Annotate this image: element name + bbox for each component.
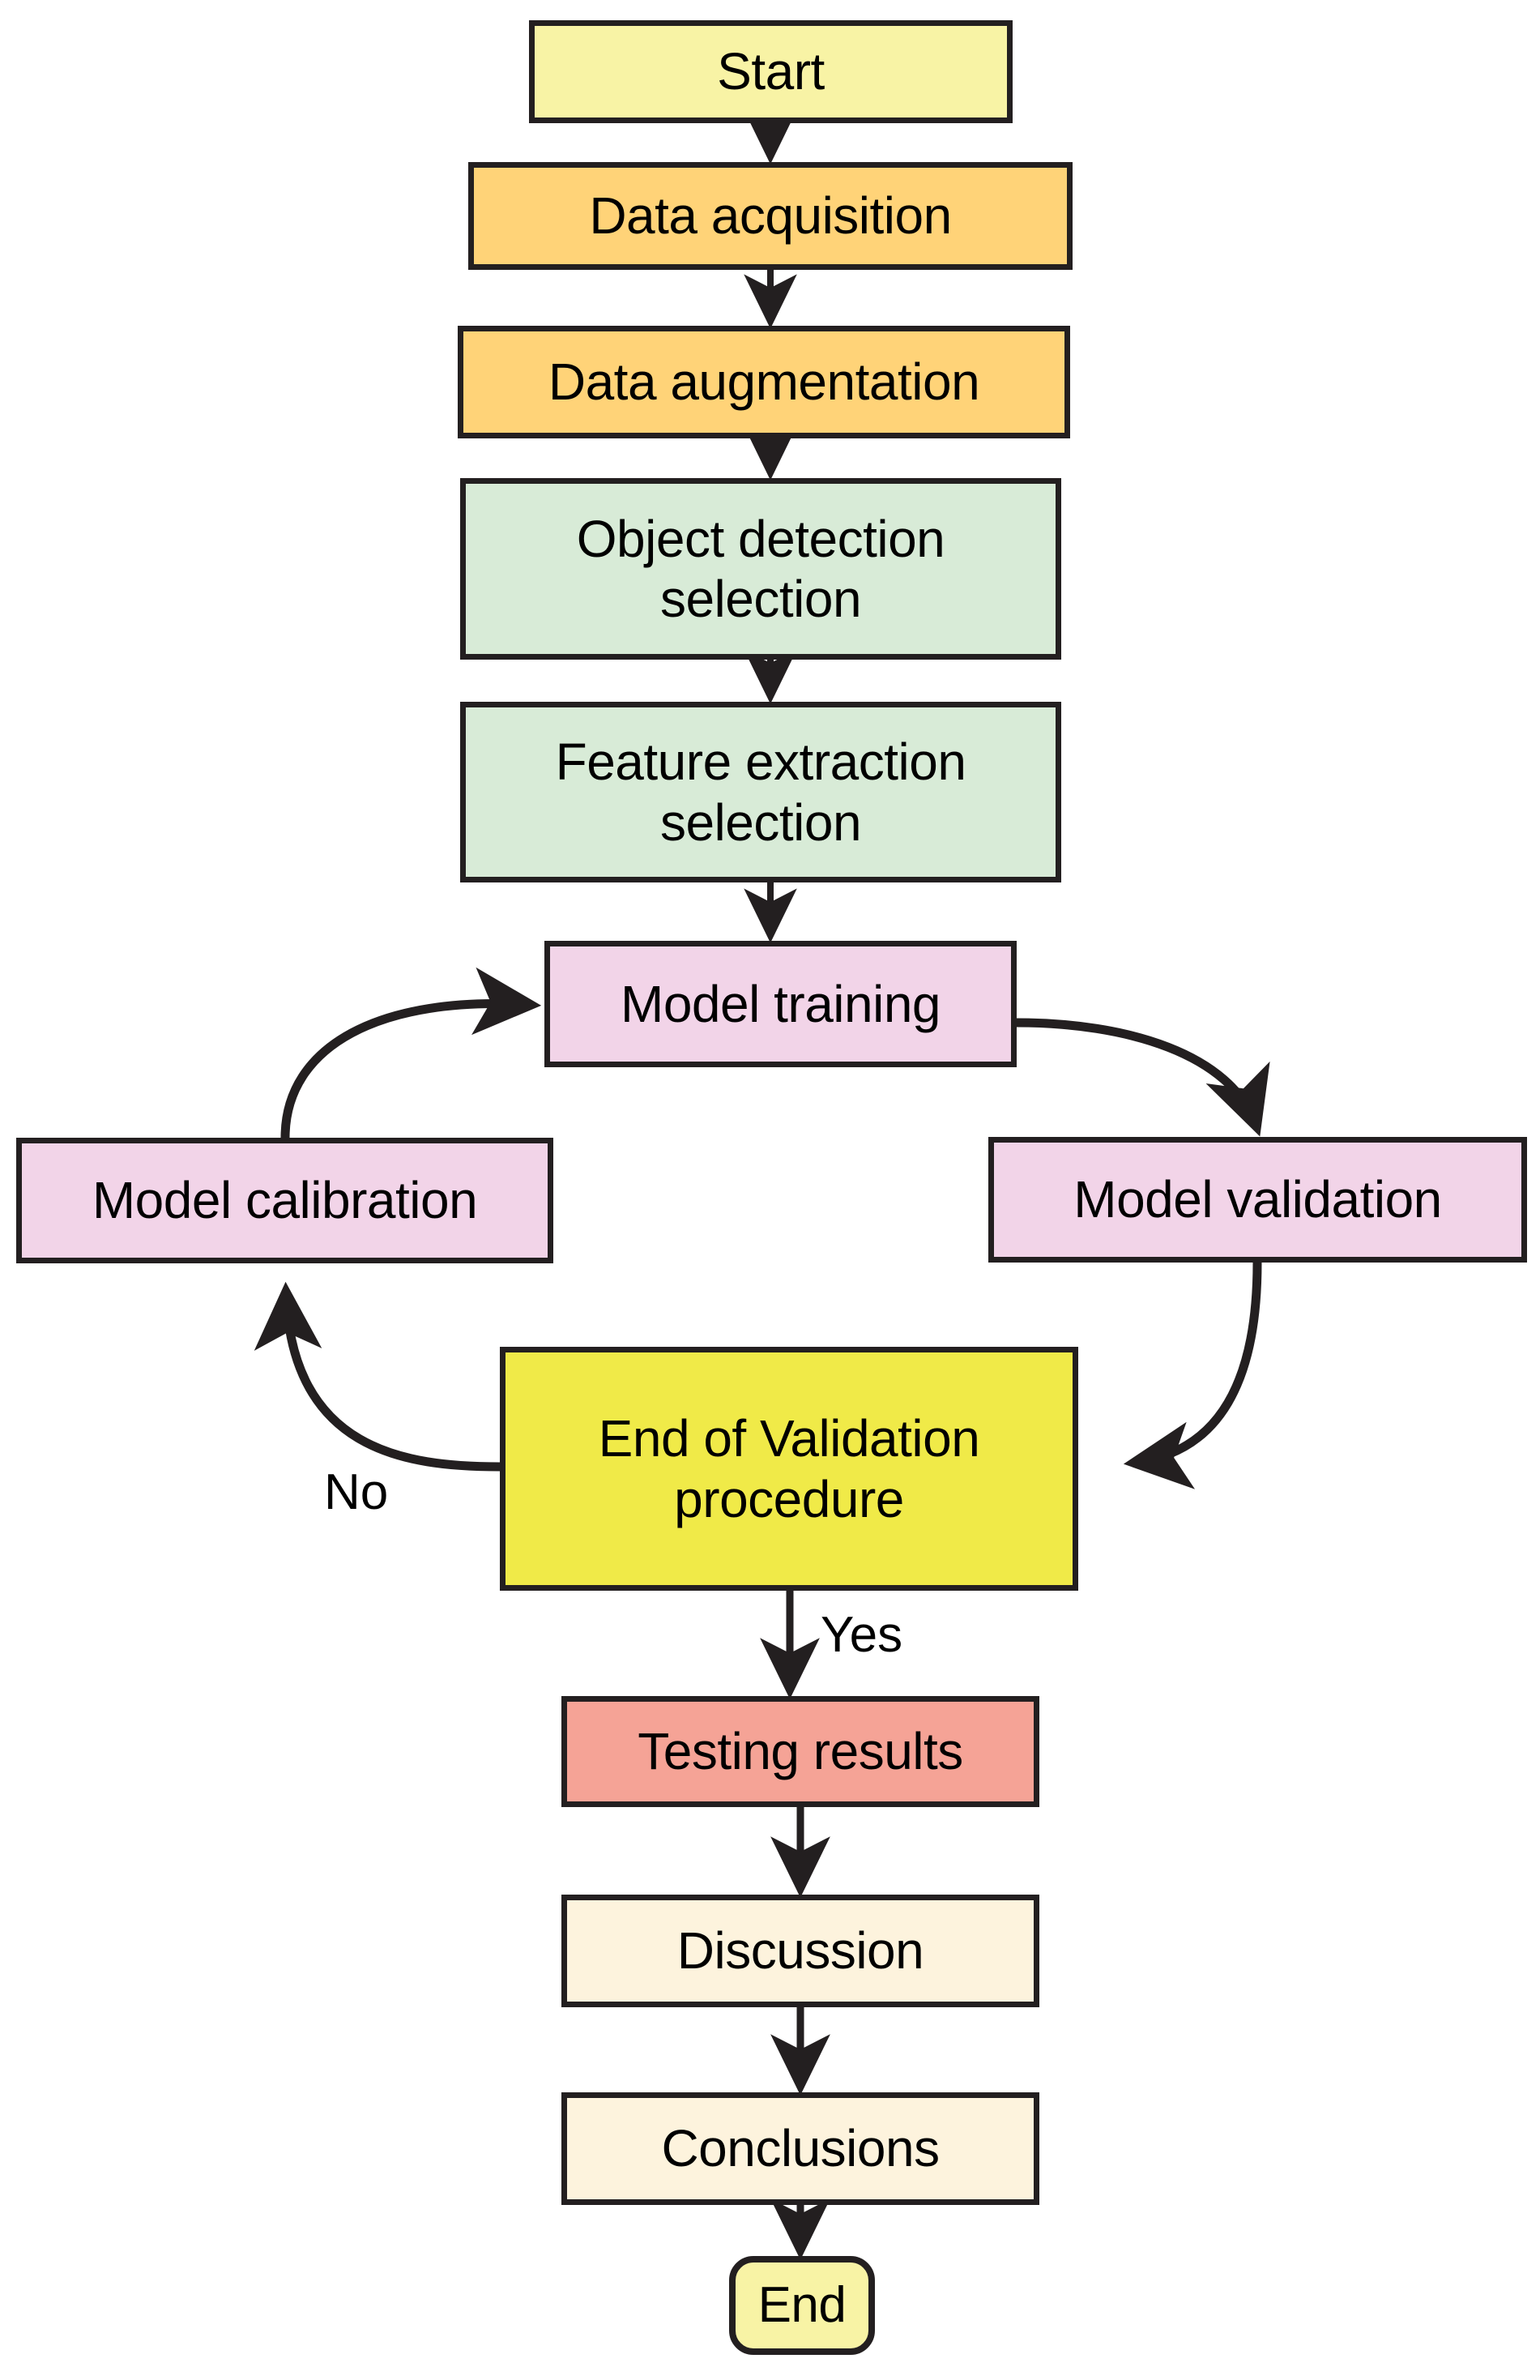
node-end-label: End	[742, 2276, 862, 2335]
node-testing-results[interactable]: Testing results	[561, 1696, 1039, 1807]
edge-end-of-validation-to-model-calibration	[286, 1293, 500, 1467]
node-object-detection-selection[interactable]: Object detection selection	[460, 478, 1061, 660]
edge-model-training-to-model-validation	[1017, 1023, 1256, 1126]
node-discussion-label: Discussion	[574, 1921, 1027, 1980]
node-model-training[interactable]: Model training	[544, 941, 1017, 1067]
node-object-detection-selection-label: Object detection selection	[472, 509, 1049, 629]
node-end-of-validation-procedure[interactable]: End of Validation procedure	[500, 1347, 1078, 1591]
node-testing-results-label: Testing results	[574, 1721, 1027, 1781]
edge-model-calibration-to-model-training	[285, 1004, 531, 1138]
node-discussion[interactable]: Discussion	[561, 1895, 1039, 2007]
node-feature-extraction-selection[interactable]: Feature extraction selection	[460, 702, 1061, 882]
node-model-validation[interactable]: Model validation	[988, 1137, 1527, 1263]
node-conclusions-label: Conclusions	[574, 2118, 1027, 2178]
node-start[interactable]: Start	[529, 20, 1013, 123]
node-end[interactable]: End	[729, 2256, 875, 2355]
node-data-augmentation-label: Data augmentation	[470, 352, 1058, 412]
node-data-acquisition[interactable]: Data acquisition	[468, 162, 1073, 270]
node-model-calibration[interactable]: Model calibration	[16, 1138, 553, 1263]
node-model-validation-label: Model validation	[1000, 1169, 1515, 1229]
node-feature-extraction-selection-label: Feature extraction selection	[472, 732, 1049, 852]
edge-label-no: No	[324, 1463, 388, 1521]
edge-label-yes: Yes	[821, 1606, 902, 1664]
node-data-acquisition-label: Data acquisition	[480, 186, 1060, 246]
node-start-label: Start	[541, 41, 1000, 101]
flowchart-canvas: Start Data acquisition Data augmentation…	[0, 0, 1540, 2380]
edge-model-validation-to-end-of-validation	[1134, 1263, 1257, 1463]
node-conclusions[interactable]: Conclusions	[561, 2092, 1039, 2205]
node-end-of-validation-procedure-label: End of Validation procedure	[512, 1408, 1066, 1528]
node-model-calibration-label: Model calibration	[28, 1170, 541, 1230]
node-model-training-label: Model training	[557, 974, 1005, 1034]
node-data-augmentation[interactable]: Data augmentation	[458, 326, 1070, 438]
